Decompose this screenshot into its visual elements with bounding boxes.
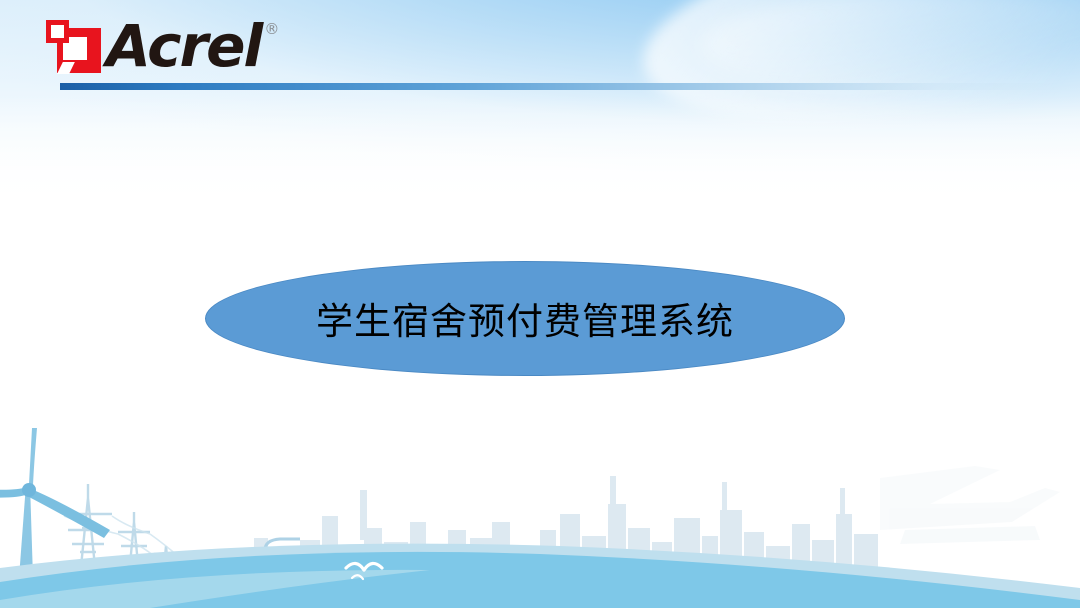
acrel-logo: Acrel ® — [46, 16, 279, 78]
presentation-slide: Acrel ® 学生宿舍预付费管理系统 — [0, 0, 1080, 608]
registered-trademark-icon: ® — [264, 20, 279, 38]
airplane-silhouette-icon — [880, 466, 1060, 544]
header-divider-rule — [60, 83, 1080, 90]
footer-illustration-svg — [0, 418, 1080, 608]
footer-illustration — [0, 418, 1080, 608]
slide-title-ellipse: 学生宿舍预付费管理系统 — [205, 261, 845, 376]
sky-fade-overlay — [0, 96, 1080, 246]
page-title: 学生宿舍预付费管理系统 — [316, 291, 734, 345]
brand-wordmark: Acrel — [106, 16, 261, 76]
acrel-square-logo-icon — [46, 20, 102, 74]
